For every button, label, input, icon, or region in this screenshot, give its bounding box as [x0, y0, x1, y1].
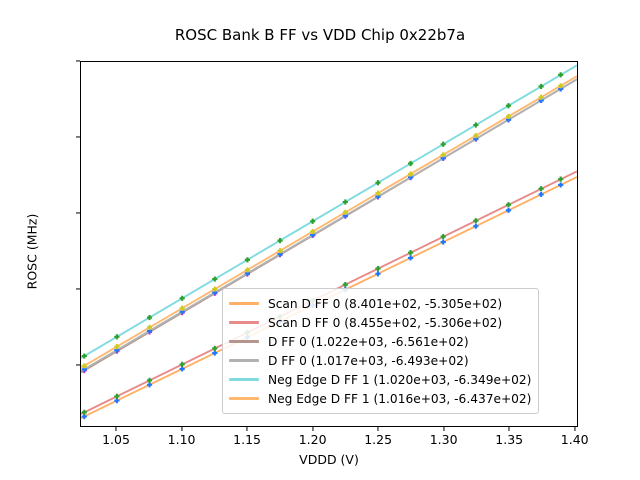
x-tick-mark	[181, 427, 182, 431]
x-tick-mark	[115, 427, 116, 431]
chart-title: ROSC Bank B FF vs VDD Chip 0x22b7a	[0, 26, 640, 44]
legend-item-label: Neg Edge D FF 1 (1.016e+03, -6.437e+02)	[268, 392, 531, 406]
legend-item-label: D FF 0 (1.017e+03, -6.493e+02)	[268, 354, 469, 368]
x-tick-mark	[443, 427, 444, 431]
legend-item[interactable]: D FF 0 (1.017e+03, -6.493e+02)	[229, 351, 531, 370]
legend-item[interactable]: Scan D FF 0 (8.401e+02, -5.305e+02)	[229, 294, 531, 313]
legend-color-swatch	[229, 359, 259, 361]
legend-item-label: Neg Edge D FF 1 (1.020e+03, -6.349e+02)	[268, 373, 531, 387]
x-tick-mark	[509, 427, 510, 431]
x-axis-label: VDDD (V)	[80, 452, 578, 467]
x-tick-label: 1.15	[233, 432, 261, 447]
x-tick-label: 1.35	[495, 432, 523, 447]
legend-item[interactable]: D FF 0 (1.022e+03, -6.561e+02)	[229, 332, 531, 351]
x-tick-label: 1.40	[561, 432, 589, 447]
x-tick-label: 1.25	[364, 432, 392, 447]
legend-item[interactable]: Neg Edge D FF 1 (1.020e+03, -6.349e+02)	[229, 370, 531, 389]
legend-item-label: Scan D FF 0 (8.401e+02, -5.305e+02)	[268, 297, 502, 311]
chart-legend: Scan D FF 0 (8.401e+02, -5.305e+02)Scan …	[222, 288, 539, 414]
legend-item[interactable]: Scan D FF 0 (8.455e+02, -5.306e+02)	[229, 313, 531, 332]
x-tick-label: 1.05	[102, 432, 130, 447]
legend-item-label: D FF 0 (1.022e+03, -6.561e+02)	[268, 335, 469, 349]
x-tick-label: 1.30	[430, 432, 458, 447]
legend-color-swatch	[229, 378, 259, 380]
legend-item[interactable]: Neg Edge D FF 1 (1.016e+03, -6.437e+02)	[229, 389, 531, 408]
x-tick-mark	[378, 427, 379, 431]
x-tick-mark	[574, 427, 575, 431]
figure-canvas: ROSC Bank B FF vs VDD Chip 0x22b7a ROSC …	[0, 0, 640, 480]
legend-color-swatch	[229, 302, 259, 304]
legend-color-swatch	[229, 340, 259, 342]
legend-color-swatch	[229, 397, 259, 399]
x-tick-label: 1.20	[299, 432, 327, 447]
x-tick-label: 1.10	[168, 432, 196, 447]
x-tick-mark	[312, 427, 313, 431]
y-axis-label: ROSC (MHz)	[25, 52, 40, 452]
legend-color-swatch	[229, 321, 259, 323]
legend-item-label: Scan D FF 0 (8.455e+02, -5.306e+02)	[268, 316, 502, 330]
x-tick-mark	[247, 427, 248, 431]
